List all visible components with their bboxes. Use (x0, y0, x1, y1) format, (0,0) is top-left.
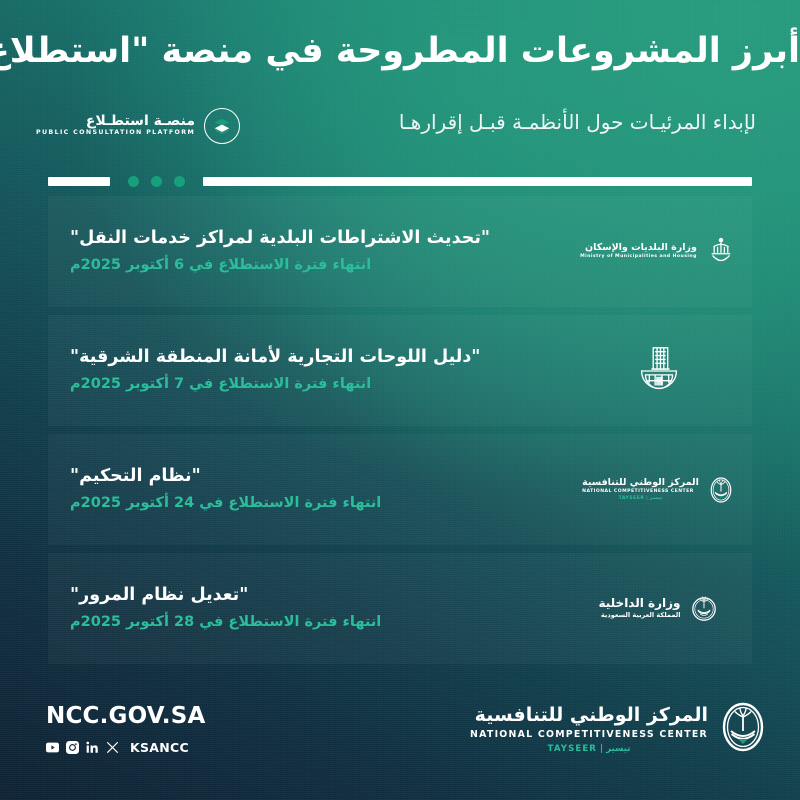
page-title: أبرز المشروعات المطروحة في منصة "استطلاع… (0, 30, 800, 74)
project-deadline: انتهاء فترة الاستطلاع في 7 أكتوبر 2025م (70, 374, 564, 396)
project-title: "نظام التحكيم" (70, 464, 564, 489)
divider-bar-short (48, 177, 110, 186)
entity-name-ar: المركز الوطني للتنافسية (582, 477, 699, 489)
linkedin-icon[interactable] (86, 741, 99, 754)
project-texts: "تعديل نظام المرور" انتهاء فترة الاستطلا… (48, 583, 574, 633)
project-deadline: انتهاء فترة الاستطلاع في 24 أكتوبر 2025م (70, 493, 564, 515)
ncc-palm-swords-emblem-icon (720, 700, 766, 758)
entity-name-ar: وزارة البلديات والإسكان (580, 242, 697, 254)
entity-text: المركز الوطني للتنافسية NATIONAL COMPETI… (582, 477, 699, 502)
project-list: وزارة البلديات والإسكان Ministry of Muni… (48, 196, 752, 672)
poster-content: أبرز المشروعات المطروحة في منصة "استطلاع… (0, 0, 800, 800)
platform-logo-name-ar: منصـة استطـلاع (36, 114, 195, 129)
x-twitter-icon[interactable] (106, 741, 119, 754)
entity-name-en: Ministry of Municipalities and Housing (580, 254, 697, 261)
divider-dots (128, 176, 185, 187)
entity-subtitle: المملكة العربية السعودية (598, 611, 680, 620)
divider-dot (151, 176, 162, 187)
entity-subtitle: تيسير | TAYSEER (582, 496, 699, 502)
platform-logo-name-en: PUBLIC CONSULTATION PLATFORM (36, 129, 195, 138)
instagram-icon[interactable] (66, 741, 79, 754)
project-title: "تعديل نظام المرور" (70, 583, 564, 608)
divider (48, 176, 752, 187)
entity-text: وزارة البلديات والإسكان Ministry of Muni… (580, 242, 697, 261)
project-deadline: انتهاء فترة الاستطلاع في 6 أكتوبر 2025م (70, 255, 564, 277)
platform-logo: منصـة استطـلاع PUBLIC CONSULTATION PLATF… (36, 108, 240, 144)
project-texts: "نظام التحكيم" انتهاء فترة الاستطلاع في … (48, 464, 574, 514)
entity-name-ar: وزارة الداخلية (598, 596, 680, 611)
social-handle: KSANCC (130, 740, 189, 755)
divider-dot (128, 176, 139, 187)
platform-logo-text: منصـة استطـلاع PUBLIC CONSULTATION PLATF… (36, 114, 195, 138)
interior-ministry-emblem-icon (688, 593, 720, 625)
website-link[interactable]: NCC.GOV.SA (46, 704, 206, 729)
footer-contact: NCC.GOV.SA (46, 704, 206, 755)
project-title: "تحديث الاشتراطات البلدية لمراكز خدمات ا… (70, 226, 564, 251)
entity-logo: وزارة الداخلية المملكة العربية السعودية (574, 593, 744, 625)
entity-name-en: NATIONAL COMPETITIVENESS CENTER (582, 489, 699, 496)
ncc-name-ar: المركز الوطني للتنافسية (470, 704, 708, 728)
poster-canvas: أبرز المشروعات المطروحة في منصة "استطلاع… (0, 0, 800, 800)
project-texts: "دليل اللوحات التجارية لأمانة المنطقة ال… (48, 345, 574, 395)
project-texts: "تحديث الاشتراطات البلدية لمراكز خدمات ا… (48, 226, 574, 276)
project-row: "دليل اللوحات التجارية لأمانة المنطقة ال… (48, 315, 752, 426)
page-subtitle: لإبداء المرئيـات حول الأنظمـة قبـل إقرار… (399, 110, 756, 134)
layers-circle-icon (204, 108, 240, 144)
project-deadline: انتهاء فترة الاستطلاع في 28 أكتوبر 2025م (70, 612, 564, 634)
ncc-logo: المركز الوطني للتنافسية NATIONAL COMPETI… (582, 475, 736, 505)
project-row: وزارة البلديات والإسكان Ministry of Muni… (48, 196, 752, 307)
ncc-logo-text: المركز الوطني للتنافسية NATIONAL COMPETI… (470, 704, 708, 755)
interior-ministry-logo: وزارة الداخلية المملكة العربية السعودية (598, 593, 719, 625)
divider-dot (174, 176, 185, 187)
entity-logo (574, 342, 744, 400)
ncc-palm-swords-emblem-icon (706, 475, 736, 505)
project-row: المركز الوطني للتنافسية NATIONAL COMPETI… (48, 434, 752, 545)
entity-logo: وزارة البلديات والإسكان Ministry of Muni… (574, 235, 744, 269)
ncc-tayseer-label: تيسير | TAYSEER (470, 744, 708, 754)
project-row: وزارة الداخلية المملكة العربية السعودية (48, 553, 752, 664)
social-links: KSANCC (46, 740, 206, 755)
entity-text: وزارة الداخلية المملكة العربية السعودية (598, 596, 680, 620)
footer-ncc-logo: المركز الوطني للتنافسية NATIONAL COMPETI… (470, 700, 766, 758)
eastern-province-municipality-emblem-icon (630, 342, 688, 400)
ncc-name-en: NATIONAL COMPETITIVENESS CENTER (470, 727, 708, 742)
project-title: "دليل اللوحات التجارية لأمانة المنطقة ال… (70, 345, 564, 370)
youtube-icon[interactable] (46, 741, 59, 754)
entity-logo: المركز الوطني للتنافسية NATIONAL COMPETI… (574, 475, 744, 505)
municipalities-housing-emblem-icon (704, 235, 738, 269)
divider-bar-long (203, 177, 752, 186)
municipalities-housing-logo: وزارة البلديات والإسكان Ministry of Muni… (580, 235, 738, 269)
